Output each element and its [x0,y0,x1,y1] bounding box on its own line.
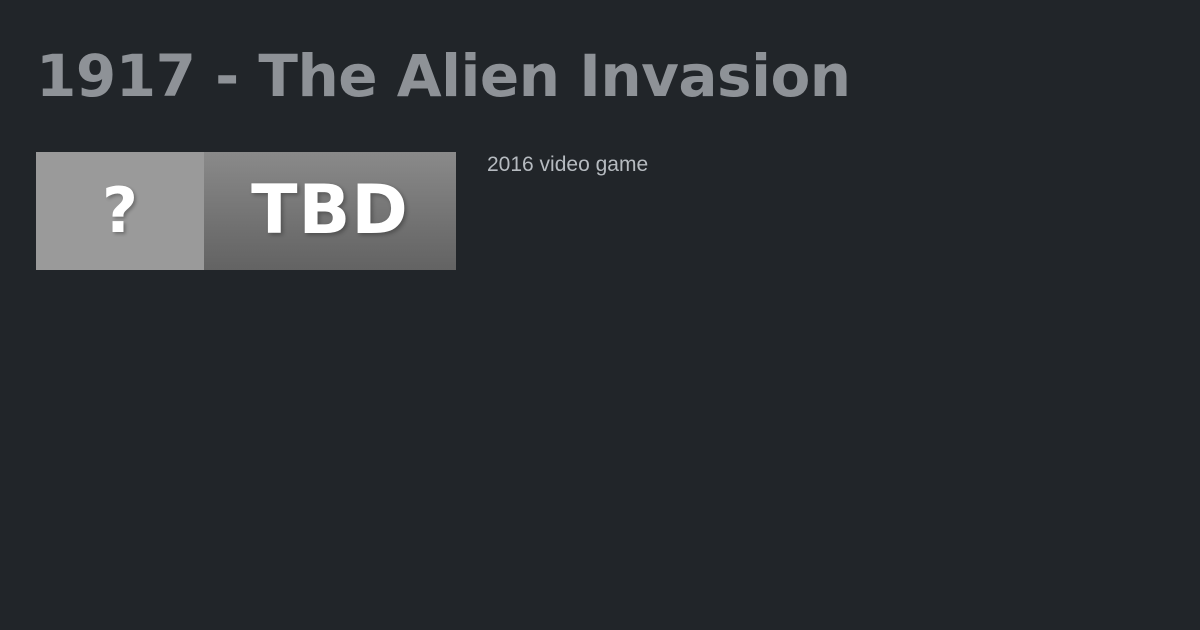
tbd-label: TBD [251,177,409,245]
page-title: 1917 - The Alien Invasion [36,47,851,105]
placeholder-question-panel: ? [36,152,204,270]
page-root: 1917 - The Alien Invasion ? TBD 2016 vid… [0,0,1200,630]
placeholder-tbd-panel: TBD [204,152,456,270]
placeholder-image: ? TBD [36,152,456,270]
question-mark-icon: ? [102,180,138,242]
description-text: 2016 video game [487,150,648,179]
